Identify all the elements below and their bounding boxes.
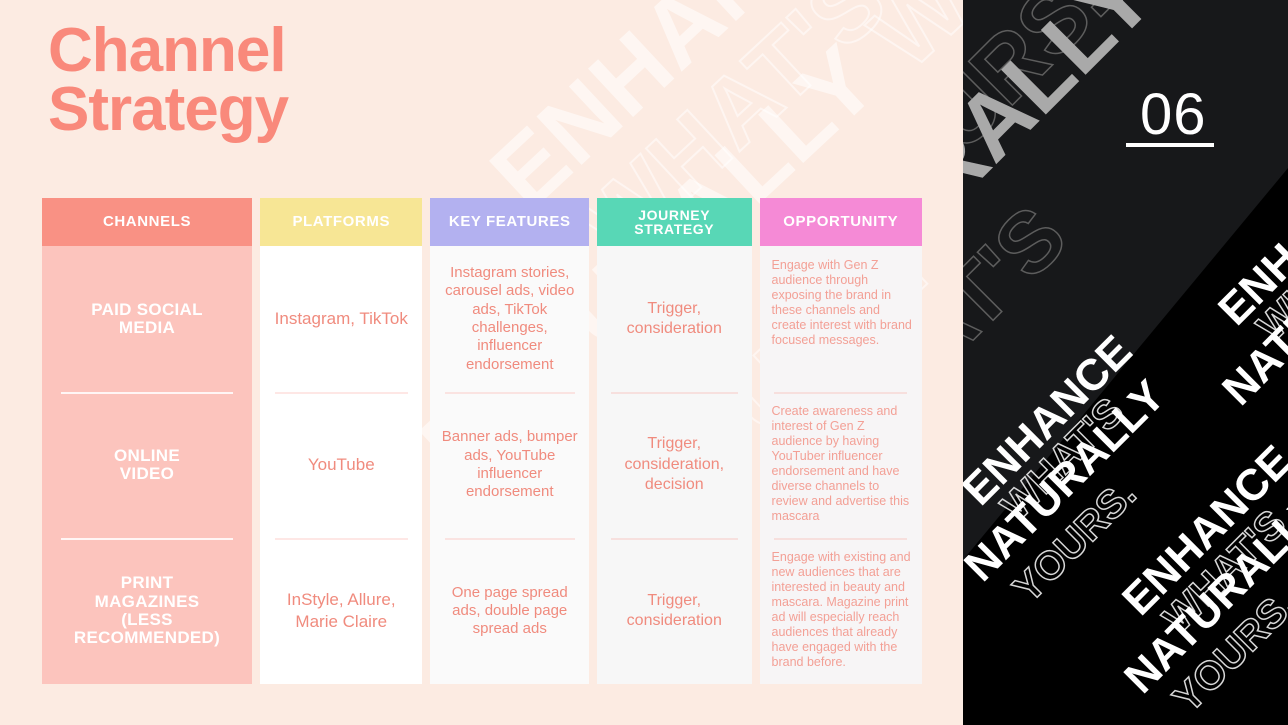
table-column-channels: CHANNELS PAID SOCIAL MEDIA ONLINE VIDEO bbox=[42, 198, 252, 684]
page-title-line-2: Strategy bbox=[48, 81, 568, 140]
table-row: Engage with Gen Z audience through expos… bbox=[760, 246, 922, 392]
channel-name-line-2: VIDEO bbox=[114, 465, 180, 483]
column-body-platforms: Instagram, TikTok YouTube InStyle, Allur… bbox=[260, 246, 422, 684]
table-row: Trigger, consideration, decision bbox=[597, 392, 752, 538]
right-black-panel: WHAT'S NATURALLY YOURS. NATURALLY WHAT'S… bbox=[963, 0, 1288, 725]
channel-strategy-table: CHANNELS PAID SOCIAL MEDIA ONLINE VIDEO bbox=[42, 198, 922, 684]
panel-watermark: WHAT'S NATURALLY YOURS. NATURALLY WHAT'S… bbox=[963, 0, 1288, 725]
column-header-platforms: PLATFORMS bbox=[260, 198, 422, 246]
table-row: InStyle, Allure, Marie Claire bbox=[260, 538, 422, 684]
column-header-line-2: STRATEGY bbox=[634, 222, 714, 236]
table-row: Instagram, TikTok bbox=[260, 246, 422, 392]
channel-name-line-1: PAID SOCIAL bbox=[91, 301, 203, 319]
column-body-journey-strategy: Trigger, consideration Trigger, consider… bbox=[597, 246, 752, 684]
channel-name-line-2: MAGAZINES bbox=[74, 593, 220, 611]
page-number-underline bbox=[1126, 143, 1214, 147]
page-number: 06 bbox=[1140, 86, 1207, 144]
column-header-line-1: JOURNEY bbox=[634, 208, 714, 222]
channel-name-line-3: (LESS bbox=[74, 611, 220, 629]
column-body-key-features: Instagram stories, carousel ads, video a… bbox=[430, 246, 589, 684]
table-row: Engage with existing and new audiences t… bbox=[760, 538, 922, 684]
table-row: Trigger, consideration bbox=[597, 538, 752, 684]
table-row: Trigger, consideration bbox=[597, 246, 752, 392]
table-row: ONLINE VIDEO bbox=[42, 392, 252, 538]
table-column-journey-strategy: JOURNEY STRATEGY Trigger, consideration … bbox=[597, 198, 752, 684]
column-body-channels: PAID SOCIAL MEDIA ONLINE VIDEO PRINT MAG… bbox=[42, 246, 252, 684]
channel-name-line-1: ONLINE bbox=[114, 447, 180, 465]
table-row: PRINT MAGAZINES (LESS RECOMMENDED) bbox=[42, 538, 252, 684]
channel-name-line-4: RECOMMENDED) bbox=[74, 629, 220, 647]
column-header-channels: CHANNELS bbox=[42, 198, 252, 246]
table-row: PAID SOCIAL MEDIA bbox=[42, 246, 252, 392]
channel-name-line-1: PRINT bbox=[74, 574, 220, 592]
table-row: Instagram stories, carousel ads, video a… bbox=[430, 246, 589, 392]
page-title: Channel Strategy bbox=[48, 22, 568, 140]
table-row: Create awareness and interest of Gen Z a… bbox=[760, 392, 922, 538]
channel-name-line-2: MEDIA bbox=[91, 319, 203, 337]
table-column-platforms: PLATFORMS Instagram, TikTok YouTube InSt… bbox=[260, 198, 422, 684]
table-column-key-features: KEY FEATURES Instagram stories, carousel… bbox=[430, 198, 589, 684]
table-row: YouTube bbox=[260, 392, 422, 538]
slide-canvas: ENHANCE WHAT'S NATURALLY YOURS. ENHANCE … bbox=[0, 0, 1288, 725]
table-row: Banner ads, bumper ads, YouTube influenc… bbox=[430, 392, 589, 538]
column-body-opportunity: Engage with Gen Z audience through expos… bbox=[760, 246, 922, 684]
column-header-opportunity: OPPORTUNITY bbox=[760, 198, 922, 246]
column-header-key-features: KEY FEATURES bbox=[430, 198, 589, 246]
table-column-opportunity: OPPORTUNITY Engage with Gen Z audience t… bbox=[760, 198, 922, 684]
table-row: One page spread ads, double page spread … bbox=[430, 538, 589, 684]
column-header-journey-strategy: JOURNEY STRATEGY bbox=[597, 198, 752, 246]
